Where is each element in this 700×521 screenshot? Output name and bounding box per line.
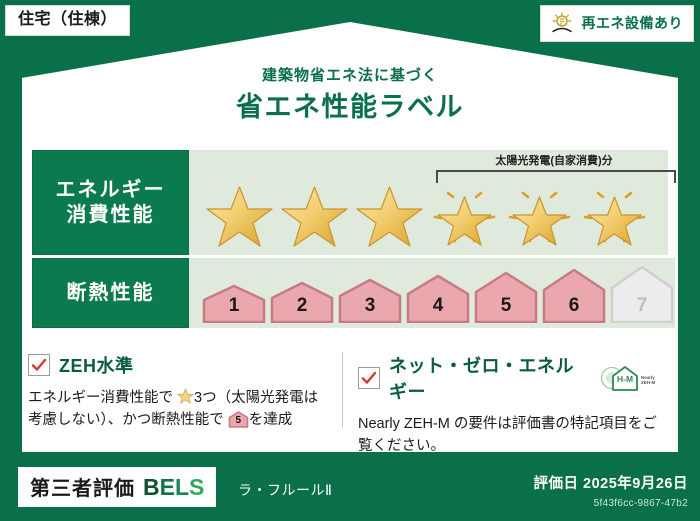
net-zero-energy-header: ネット・ゼロ・エネルギー H-M Nearly ZEH-M — [358, 352, 658, 404]
criteria-divider — [342, 352, 343, 428]
grade-number: 3 — [337, 295, 403, 317]
label-title: 省エネ性能ラベル — [0, 85, 700, 124]
bels-certification-box: 第三者評価 BELS — [18, 467, 216, 507]
evaluation-date-value: 2025年9月26日 — [583, 476, 688, 492]
bels-logo: BELS — [143, 474, 204, 501]
zeh-desc-part1: エネルギー消費性能で — [28, 390, 173, 406]
grade-number: 4 — [405, 295, 471, 317]
energy-performance-label-box: エネルギー 消費性能 — [32, 150, 189, 255]
renewable-equipment-badge: 再エネ設備あり — [540, 5, 695, 42]
energy-label-line1: エネルギー — [56, 178, 166, 203]
zeh-standard-description: エネルギー消費性能で 3つ（太陽光発電は考慮しない）、かつ断熱性能で 5 を達成 — [28, 387, 328, 432]
grade-number: 6 — [541, 295, 607, 317]
inline-house-grade-icon: 5 — [228, 411, 249, 428]
footer-bar: 第三者評価 BELS ラ・フルールⅡ 評価日 2025年9月26日 5f43f6… — [0, 461, 700, 521]
insulation-grade-7: 7 — [609, 264, 675, 323]
zeh-standard-header: ZEH水準 — [28, 352, 328, 378]
evaluation-date: 評価日 2025年9月26日 — [534, 472, 688, 493]
third-party-eval-label: 第三者評価 — [30, 472, 135, 501]
insulation-performance-label-box: 断熱性能 — [32, 258, 189, 328]
renewable-badge-label: 再エネ設備あり — [582, 16, 684, 30]
inline-house-number: 5 — [228, 413, 249, 429]
evaluation-id: 5f43f6cc-9867-47b2 — [594, 498, 688, 509]
bels-letter-l: L — [175, 474, 189, 500]
insulation-grade-5: 5 — [473, 270, 539, 323]
grade-number: 1 — [201, 295, 267, 317]
insulation-grade-2: 2 — [269, 280, 335, 323]
insulation-grade-3: 3 — [337, 277, 403, 323]
energy-performance-rating-area: 太陽光発電(自家消費)分 — [189, 150, 668, 255]
solar-bracket-caption: 太陽光発電(自家消費)分 — [436, 152, 672, 168]
evaluation-date-label: 評価日 — [534, 476, 579, 492]
check-icon — [31, 357, 47, 373]
zeh-standard-title: ZEH水準 — [59, 352, 134, 378]
svg-text:H-M: H-M — [617, 374, 633, 384]
insulation-grade-4: 4 — [405, 273, 471, 323]
insulation-label-text: 断熱性能 — [67, 281, 155, 306]
bels-letter-s: S — [189, 474, 204, 500]
zeh-desc-stars: 3つ（太陽光発電 — [194, 390, 304, 406]
star-filled-1 — [203, 179, 276, 251]
grade-number: 5 — [473, 295, 539, 317]
star-filled-2 — [278, 179, 351, 251]
insulation-performance-row: 断熱性能 1 2 3 4 — [32, 258, 668, 328]
grade-number: 7 — [609, 295, 675, 317]
zeh-desc-part3: を達成 — [249, 412, 293, 428]
grade-number: 2 — [269, 295, 335, 317]
zeh-m-logo-icon: H-M Nearly ZEH-M — [600, 363, 658, 393]
insulation-rating-area: 1 2 3 4 5 — [189, 258, 675, 328]
star-solar-6 — [578, 179, 651, 251]
zeh-standard-checkbox[interactable] — [28, 354, 50, 376]
zeh-standard-block: ZEH水準 エネルギー消費性能で 3つ（太陽光発電は考慮しない）、かつ断熱性能で… — [28, 352, 328, 432]
insulation-grade-scale: 1 2 3 4 5 — [189, 264, 675, 328]
check-icon — [361, 370, 377, 386]
svg-text:ZEH-M: ZEH-M — [641, 380, 655, 385]
energy-label-line2: 消費性能 — [67, 203, 155, 228]
star-filled-3 — [353, 179, 426, 251]
star-solar-5 — [503, 179, 576, 251]
net-zero-energy-title: ネット・ゼロ・エネルギー — [389, 352, 587, 404]
energy-performance-row: エネルギー 消費性能 太陽光発電(自家消費)分 — [32, 150, 668, 255]
net-zero-energy-block: ネット・ゼロ・エネルギー H-M Nearly ZEH-M Nearly ZEH… — [358, 352, 658, 458]
building-type-tag: 住宅（住棟） — [5, 5, 130, 36]
star-rating — [189, 179, 668, 255]
solar-sun-icon — [549, 11, 575, 35]
label-subtitle: 建築物省エネ法に基づく — [0, 64, 700, 85]
bels-letter-e: E — [160, 474, 175, 500]
star-solar-4 — [428, 179, 501, 251]
insulation-grade-6: 6 — [541, 267, 607, 323]
bels-letter-b: B — [143, 474, 160, 500]
energy-performance-label: 住宅（住棟） 再エネ設備あり 建築物省エネ法に基づく 省エネ性能ラベル エネルギ… — [0, 0, 700, 521]
project-name: ラ・フルールⅡ — [238, 480, 332, 500]
net-zero-energy-checkbox[interactable] — [358, 367, 380, 389]
inline-star-icon — [177, 388, 194, 405]
net-zero-energy-description: Nearly ZEH-M の要件は評価書の特記項目をご覧ください。 — [358, 413, 658, 458]
insulation-grade-1: 1 — [201, 283, 267, 323]
